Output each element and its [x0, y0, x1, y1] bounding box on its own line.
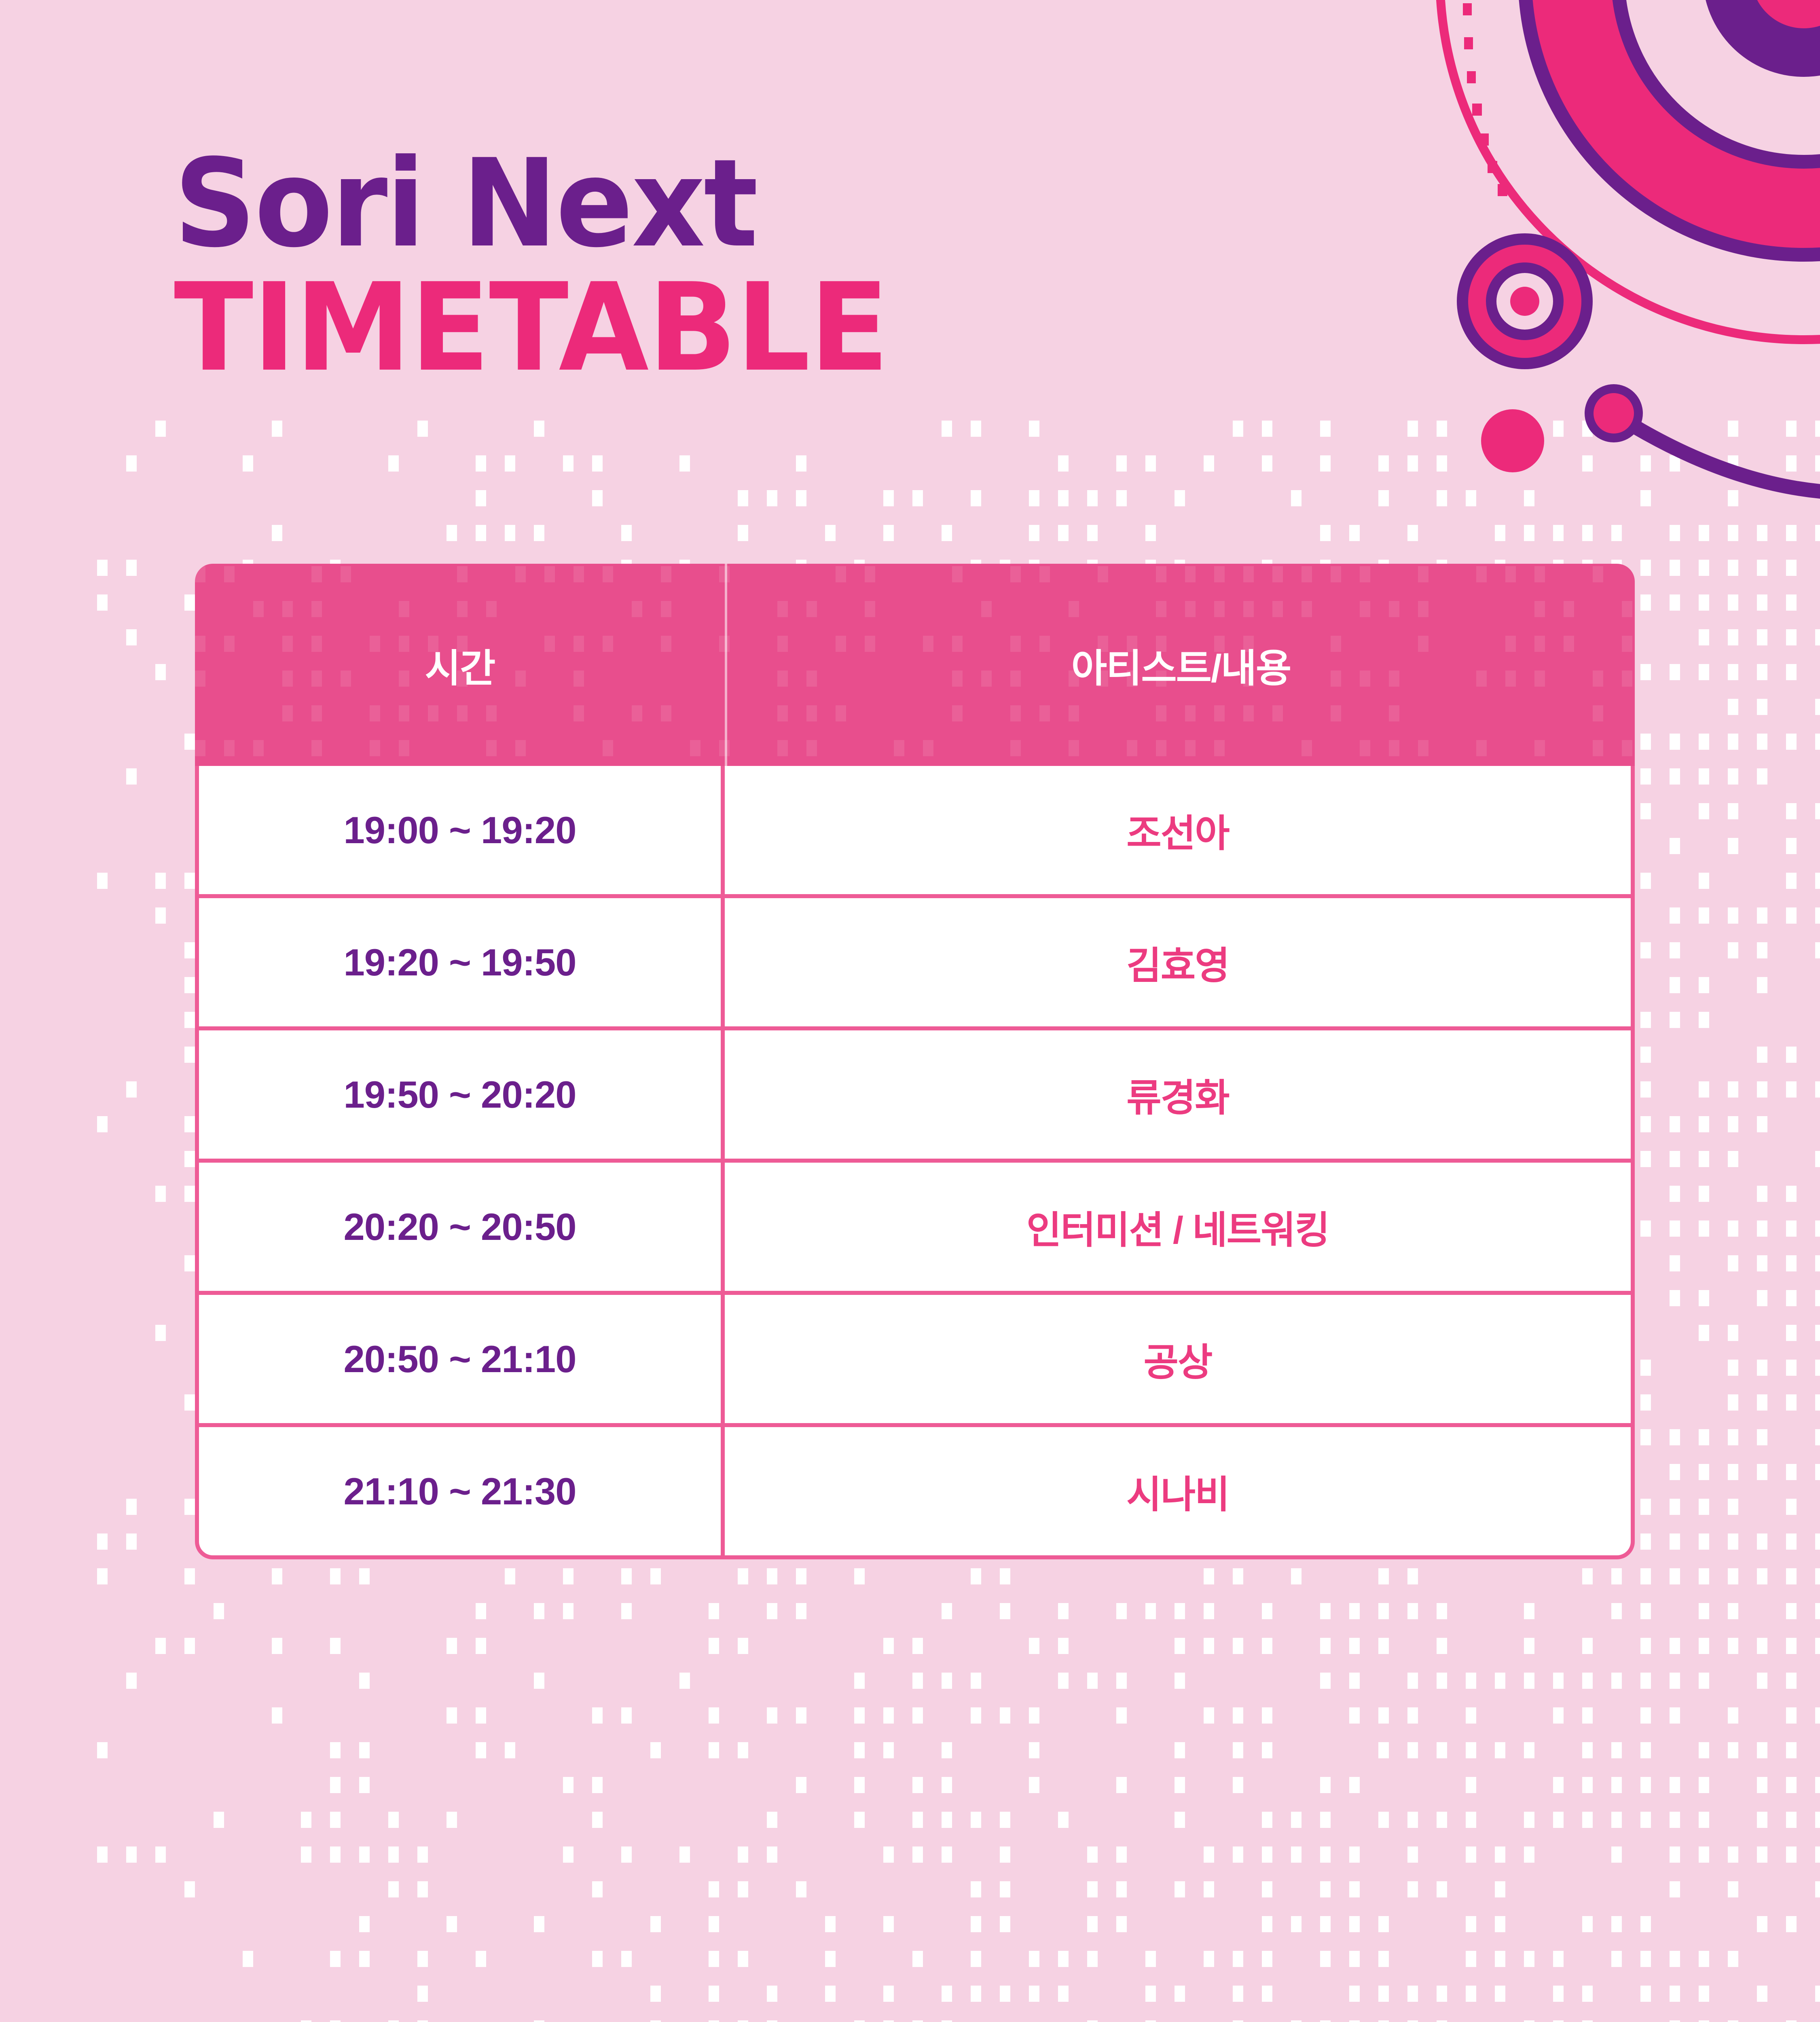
pattern-dot	[1670, 1499, 1680, 1515]
pattern-dot	[97, 1846, 108, 1863]
pattern-dot	[1815, 525, 1820, 541]
pattern-dot	[1670, 1951, 1680, 1967]
pattern-dot	[1640, 1394, 1651, 1411]
pattern-dot	[126, 560, 137, 576]
pattern-dot	[1611, 1603, 1622, 1619]
pattern-dot	[476, 1603, 486, 1619]
pattern-dot	[155, 907, 166, 924]
pattern-dot	[1495, 525, 1505, 541]
pattern-dot	[272, 1638, 282, 1654]
pattern-dot	[1029, 1777, 1039, 1793]
pattern-dot	[1786, 1846, 1797, 1863]
pattern-dot	[1699, 1464, 1709, 1480]
pattern-dot	[709, 1881, 719, 1897]
pattern-dot	[184, 1394, 195, 1411]
pattern-dot	[1000, 1707, 1010, 1724]
pattern-dot	[1699, 1742, 1709, 1758]
pattern-dot	[1611, 1568, 1622, 1584]
pattern-dot	[1699, 977, 1709, 993]
pattern-dot	[1786, 838, 1797, 854]
pattern-dot	[1670, 977, 1680, 993]
pattern-dot	[1233, 1707, 1243, 1724]
pattern-dot	[1553, 1986, 1564, 2002]
pattern-dot	[476, 1638, 486, 1654]
pattern-dot	[1524, 1638, 1534, 1654]
pattern-dot	[650, 1916, 661, 1932]
cell-artist: 공상	[725, 1295, 1631, 1423]
pattern-dot	[1670, 1986, 1680, 2002]
pattern-dot	[1204, 1603, 1214, 1619]
pattern-dot	[1728, 1638, 1738, 1654]
pattern-dot	[1786, 664, 1797, 680]
pattern-dot	[1116, 1777, 1127, 1793]
pattern-dot	[1699, 1290, 1709, 1306]
pattern-dot	[155, 1186, 166, 1202]
pattern-dot	[1670, 455, 1680, 472]
pattern-dot	[1670, 594, 1680, 611]
cell-time: 21:10 ~ 21:30	[199, 1427, 725, 1555]
ringed-dot	[1585, 384, 1643, 442]
pattern-dot	[1262, 1846, 1272, 1863]
pattern-dot	[1815, 1325, 1820, 1341]
pattern-dot	[1699, 1777, 1709, 1793]
pattern-dot	[971, 490, 981, 506]
pattern-dot	[1728, 664, 1738, 680]
pattern-dot	[1320, 1846, 1331, 1863]
pattern-dot	[621, 1568, 632, 1584]
pattern-dot	[1524, 1603, 1534, 1619]
pattern-dot	[1815, 1151, 1820, 1167]
pattern-dot	[1553, 2020, 1564, 2022]
pattern-dot	[1699, 1081, 1709, 1098]
pattern-dot	[1204, 1951, 1214, 1967]
pattern-dot	[1786, 421, 1797, 437]
pattern-dot	[330, 2020, 341, 2022]
pattern-dot	[1815, 1881, 1820, 1897]
pattern-dot	[912, 1673, 923, 1689]
pattern-dot	[1786, 1673, 1797, 1689]
pattern-dot	[825, 1951, 836, 1967]
pattern-dot	[1407, 525, 1418, 541]
pattern-dot	[1524, 1951, 1534, 1967]
pattern-dot	[942, 1777, 952, 1793]
pattern-dot	[155, 1638, 166, 1654]
pattern-dot	[1582, 1812, 1593, 1828]
pattern-dot	[1058, 1951, 1069, 1967]
pattern-dot	[1611, 1846, 1622, 1863]
table-row: 19:20 ~ 19:50김효영	[199, 898, 1631, 1030]
pattern-dot	[1145, 1951, 1156, 1967]
title-line-sori-next: Sori Next	[174, 146, 874, 262]
pattern-dot	[1233, 2020, 1243, 2022]
pattern-dot	[126, 455, 137, 472]
pattern-dot	[1640, 1603, 1651, 1619]
pattern-dot	[854, 1742, 865, 1758]
pattern-dot	[1728, 1951, 1738, 1967]
pattern-dot	[1757, 1220, 1767, 1237]
pattern-dot	[1524, 490, 1534, 506]
pattern-dot	[1640, 1116, 1651, 1132]
pattern-dot	[971, 1986, 981, 2002]
pattern-dot	[1699, 1429, 1709, 1445]
pattern-dot	[1087, 1881, 1098, 1897]
pattern-dot	[942, 1846, 952, 1863]
pattern-dot	[184, 873, 195, 889]
pattern-dot	[971, 1707, 981, 1724]
pattern-dot	[1582, 1673, 1593, 1689]
pattern-dot	[1116, 1603, 1127, 1619]
pattern-dot	[1058, 490, 1069, 506]
pattern-dot	[184, 1255, 195, 1271]
pattern-dot	[1175, 1777, 1185, 1793]
pattern-dot	[883, 1986, 894, 2002]
pattern-dot	[1786, 1777, 1797, 1793]
pattern-dot	[1582, 1777, 1593, 1793]
pattern-dot	[447, 1707, 457, 1724]
pattern-dot	[1262, 1638, 1272, 1654]
pattern-dot	[738, 1638, 748, 1654]
pattern-dot	[1670, 1186, 1680, 1202]
pattern-dot	[1204, 455, 1214, 472]
pattern-dot	[854, 2020, 865, 2022]
pattern-dot	[330, 1846, 341, 1863]
pattern-dot	[709, 1951, 719, 1967]
pattern-dot	[1000, 1568, 1010, 1584]
pattern-dot	[1582, 1638, 1593, 1654]
pattern-dot	[1786, 1638, 1797, 1654]
pattern-dot	[97, 1116, 108, 1132]
table-body: 19:00 ~ 19:20조선아19:20 ~ 19:50김효영19:50 ~ …	[195, 766, 1635, 1559]
pattern-dot	[1728, 1603, 1738, 1619]
pattern-dot	[1378, 1986, 1389, 2002]
pattern-dot	[1670, 1881, 1680, 1897]
pattern-dot	[971, 1812, 981, 1828]
pattern-dot	[592, 1881, 603, 1897]
pattern-dot	[1466, 1707, 1476, 1724]
pattern-dot	[214, 1812, 224, 1828]
pattern-dot	[1407, 1742, 1418, 1758]
pattern-dot	[1670, 664, 1680, 680]
pattern-dot	[1670, 1673, 1680, 1689]
pattern-dot	[1699, 1951, 1709, 1967]
pattern-dot	[1640, 1707, 1651, 1724]
pattern-dot	[1495, 1881, 1505, 1897]
table-row: 19:00 ~ 19:20조선아	[199, 766, 1631, 898]
pattern-dot	[1757, 1081, 1767, 1098]
pattern-dot	[1815, 1360, 1820, 1376]
cell-time: 20:50 ~ 21:10	[199, 1295, 725, 1423]
pattern-dot	[1349, 1916, 1360, 1932]
pattern-dot	[1437, 1881, 1447, 1897]
pattern-dot	[1728, 560, 1738, 576]
pattern-dot	[1670, 1568, 1680, 1584]
pattern-dot	[1757, 525, 1767, 541]
pattern-dot	[126, 1673, 137, 1689]
pattern-dot	[447, 1812, 457, 1828]
pattern-dot	[1175, 1673, 1185, 1689]
pattern-dot	[1815, 734, 1820, 750]
pattern-dot	[184, 1881, 195, 1897]
pattern-dot	[1116, 1846, 1127, 1863]
pattern-dot	[1000, 1881, 1010, 1897]
pattern-dot	[1728, 699, 1738, 715]
purple-core-disc	[1703, 0, 1820, 77]
pattern-dot	[155, 873, 166, 889]
pattern-dot	[1728, 1360, 1738, 1376]
pattern-dot	[679, 1673, 690, 1689]
pattern-dot	[1728, 629, 1738, 645]
pattern-dot	[883, 1638, 894, 1654]
pattern-dot	[1378, 1707, 1389, 1724]
pattern-dot	[126, 1846, 137, 1863]
timetable-card: 시간 아티스트/내용 19:00 ~ 19:20조선아19:20 ~ 19:50…	[195, 564, 1635, 1559]
pattern-dot	[1611, 1673, 1622, 1689]
pattern-dot	[709, 1986, 719, 2002]
pattern-dot	[1786, 2020, 1797, 2022]
pattern-dot	[883, 1742, 894, 1758]
pattern-dot	[330, 1568, 341, 1584]
pattern-dot	[1728, 1533, 1738, 1550]
pattern-dot	[1670, 1812, 1680, 1828]
pattern-dot	[1670, 1012, 1680, 1028]
pattern-dot	[1611, 1777, 1622, 1793]
pattern-dot	[1437, 455, 1447, 472]
pattern-dot	[1378, 490, 1389, 506]
pattern-dot	[1553, 525, 1564, 541]
pattern-dot	[912, 1777, 923, 1793]
pattern-dot	[534, 1603, 544, 1619]
pattern-dot	[1466, 1846, 1476, 1863]
pattern-dot	[1611, 525, 1622, 541]
pattern-dot	[1145, 1986, 1156, 2002]
pattern-dot	[1582, 455, 1593, 472]
pattern-dot	[1815, 1777, 1820, 1793]
pattern-dot	[1029, 490, 1039, 506]
pattern-dot	[592, 1707, 603, 1724]
pattern-dot	[912, 490, 923, 506]
pattern-dot	[97, 1742, 108, 1758]
pattern-dot	[563, 1603, 574, 1619]
pattern-dot	[825, 1916, 836, 1932]
pattern-dot	[1786, 1255, 1797, 1271]
pattern-dot	[97, 594, 108, 611]
pattern-dot	[330, 1951, 341, 1967]
pattern-dot	[971, 1951, 981, 1967]
pattern-dot	[1407, 1846, 1418, 1863]
table-header-row: 시간 아티스트/내용	[195, 564, 1635, 766]
pattern-dot	[854, 1812, 865, 1828]
pattern-dot	[1145, 1603, 1156, 1619]
pattern-dot	[1757, 1846, 1767, 1863]
pattern-dot	[1757, 1638, 1767, 1654]
pattern-dot	[1786, 1394, 1797, 1411]
pattern-dot	[1728, 1707, 1738, 1724]
pattern-dot	[1582, 421, 1593, 437]
pattern-dot	[1640, 1429, 1651, 1445]
pattern-dot	[1728, 1325, 1738, 1341]
pattern-dot	[1640, 560, 1651, 576]
pattern-dot	[1553, 1951, 1564, 1967]
pattern-dot	[1757, 594, 1767, 611]
pattern-dot	[592, 455, 603, 472]
pattern-dot	[1087, 2020, 1098, 2022]
pattern-dot	[1640, 1533, 1651, 1550]
pattern-dot	[1233, 1638, 1243, 1654]
pattern-dot	[1640, 1568, 1651, 1584]
pattern-dot	[1145, 2020, 1156, 2022]
pattern-dot	[942, 1742, 952, 1758]
pattern-dot	[912, 1638, 923, 1654]
pattern-dot	[1640, 1012, 1651, 1028]
pattern-dot	[1407, 1881, 1418, 1897]
pattern-dot	[1262, 1812, 1272, 1828]
pattern-dot	[184, 594, 195, 611]
pattern-dot	[1175, 1638, 1185, 1654]
pattern-dot	[1175, 490, 1185, 506]
pattern-dot	[709, 1742, 719, 1758]
pattern-dot	[1000, 1916, 1010, 1932]
pattern-dot	[738, 1742, 748, 1758]
pattern-dot	[359, 1742, 370, 1758]
pattern-dot	[1699, 1986, 1709, 2002]
pattern-dot	[1786, 1812, 1797, 1828]
purple-ring-inner	[1618, 0, 1820, 162]
pattern-dot	[1815, 1603, 1820, 1619]
pattern-dot	[796, 1603, 806, 1619]
pattern-dot	[1699, 873, 1709, 889]
pattern-dot	[1728, 907, 1738, 924]
pattern-dot	[1815, 1290, 1820, 1306]
pattern-dot	[1553, 1777, 1564, 1793]
pattern-dot	[388, 1812, 399, 1828]
pattern-dot	[912, 2020, 923, 2022]
pattern-dot	[1757, 1673, 1767, 1689]
pattern-dot	[1728, 1394, 1738, 1411]
pattern-dot	[592, 1777, 603, 1793]
pattern-dot	[1437, 2020, 1447, 2022]
pattern-dot	[97, 1533, 108, 1550]
pattern-dot	[1407, 455, 1418, 472]
pattern-dot	[1757, 768, 1767, 785]
pattern-dot	[1640, 768, 1651, 785]
pattern-dot	[1640, 1047, 1651, 1063]
pattern-dot	[155, 1325, 166, 1341]
pattern-dot	[1466, 1986, 1476, 2002]
pattern-dot	[1262, 1916, 1272, 1932]
pattern-dot	[1233, 1568, 1243, 1584]
pattern-dot	[1670, 1220, 1680, 1237]
pattern-dot	[447, 1638, 457, 1654]
pattern-dot	[1116, 1881, 1127, 1897]
pattern-dot	[417, 1846, 428, 1863]
pattern-dot	[1437, 1986, 1447, 2002]
pattern-dot	[184, 1186, 195, 1202]
pattern-dot	[1640, 1499, 1651, 1515]
pattern-dot	[1728, 1151, 1738, 1167]
pattern-dot	[883, 1846, 894, 1863]
pattern-dot	[1815, 1220, 1820, 1237]
pattern-dot	[1640, 455, 1651, 472]
pattern-dot	[1670, 2020, 1680, 2022]
pattern-dot	[1407, 1673, 1418, 1689]
pattern-dot	[1029, 1742, 1039, 1758]
pattern-dot	[1087, 490, 1098, 506]
pattern-dot	[942, 1673, 952, 1689]
pattern-dot	[1466, 1742, 1476, 1758]
pattern-dot	[1670, 1707, 1680, 1724]
timetable-poster: Sori Next TIMETABLE 시간 아티스트/내용 19:00 ~ 1…	[0, 0, 1820, 2022]
pattern-dot	[1495, 1951, 1505, 1967]
pattern-dot	[1670, 525, 1680, 541]
pattern-dot	[563, 1846, 574, 1863]
solid-pink-disc	[1525, 0, 1820, 255]
pattern-dot	[767, 1986, 777, 2002]
pattern-dot	[767, 1846, 777, 1863]
pattern-dot	[1699, 1151, 1709, 1167]
pattern-dot	[1699, 1116, 1709, 1132]
pattern-dot	[621, 1603, 632, 1619]
pattern-dot	[1757, 664, 1767, 680]
pattern-dot	[796, 1777, 806, 1793]
pattern-dot	[1757, 1360, 1767, 1376]
pattern-dot	[1407, 2020, 1418, 2022]
pattern-dot	[1582, 1986, 1593, 2002]
pattern-dot	[155, 664, 166, 680]
pattern-dot	[1757, 1916, 1767, 1932]
pattern-dot	[854, 1673, 865, 1689]
pattern-dot	[1699, 1568, 1709, 1584]
pattern-dot	[883, 1707, 894, 1724]
table-row: 19:50 ~ 20:20류경화	[199, 1030, 1631, 1163]
pattern-dot	[883, 2020, 894, 2022]
pattern-dot	[1815, 1846, 1820, 1863]
pattern-dot	[1291, 1812, 1302, 1828]
pattern-dot	[1815, 1812, 1820, 1828]
pattern-dot	[1058, 1638, 1069, 1654]
pattern-dot	[1670, 1777, 1680, 1793]
pattern-dot	[1757, 1290, 1767, 1306]
pattern-dot	[1437, 1812, 1447, 1828]
pattern-dot	[1699, 629, 1709, 645]
cell-time: 19:00 ~ 19:20	[199, 766, 725, 894]
pattern-dot	[1407, 1568, 1418, 1584]
pattern-dot	[1786, 734, 1797, 750]
pattern-dot	[1670, 1846, 1680, 1863]
pattern-dot	[767, 1707, 777, 1724]
pattern-dot	[592, 490, 603, 506]
pattern-dot	[1145, 455, 1156, 472]
pattern-dot	[1699, 594, 1709, 611]
pattern-dot	[97, 873, 108, 889]
pattern-dot	[1116, 455, 1127, 472]
pattern-dot	[1524, 1846, 1534, 1863]
pattern-dot	[1786, 1360, 1797, 1376]
pattern-dot	[243, 455, 253, 472]
pattern-dot	[301, 2020, 311, 2022]
pattern-dot	[1495, 1986, 1505, 2002]
pattern-dot	[796, 455, 806, 472]
pattern-dot	[1116, 1673, 1127, 1689]
pattern-dot	[1699, 907, 1709, 924]
pattern-dot	[1320, 525, 1331, 541]
pattern-dot	[388, 1881, 399, 1897]
pattern-dot	[1728, 1568, 1738, 1584]
pattern-dot	[1524, 1812, 1534, 1828]
cell-artist: 시나비	[725, 1427, 1631, 1555]
pattern-dot	[1728, 455, 1738, 472]
pattern-dot	[1815, 907, 1820, 924]
pattern-dot	[1058, 525, 1069, 541]
